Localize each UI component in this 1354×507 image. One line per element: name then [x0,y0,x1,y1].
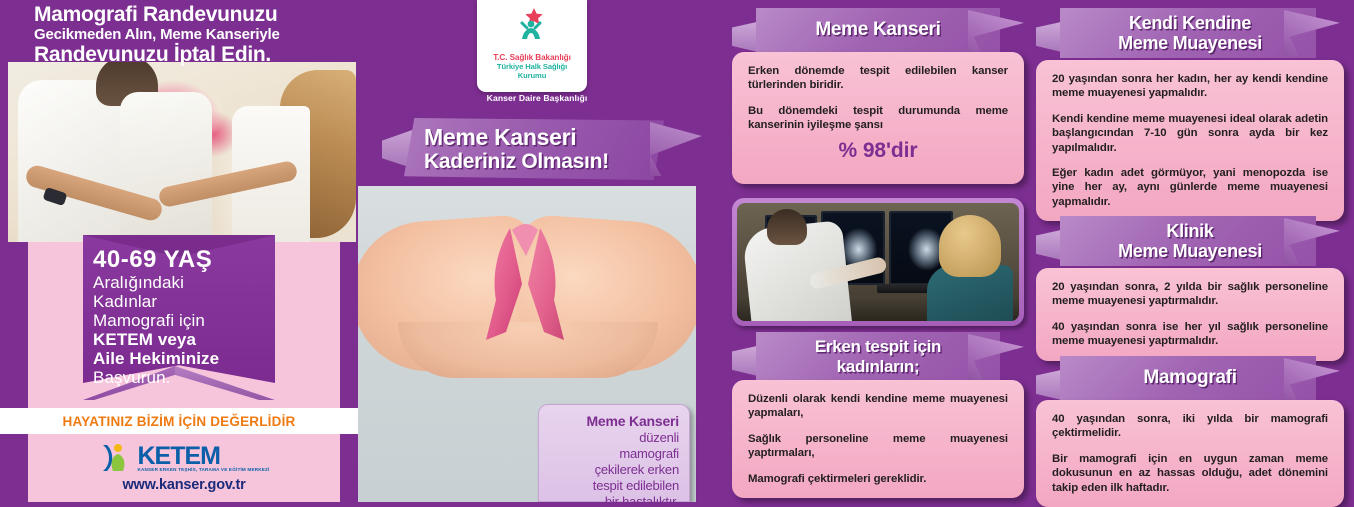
left-panel: Mamografi Randevunuzu Gecikmeden Alın, M… [0,0,358,502]
banner-body [1060,8,1316,58]
card-body: 20 yaşından sonra her kadın, her ay kend… [1036,60,1344,221]
card-banner: Kendi Kendine Meme Muayenesi [1036,8,1344,60]
age-range-ribbon: 40-69 YAŞ Aralığındaki Kadınlar Mamograf… [83,235,275,387]
banner-body [1060,356,1316,400]
card-meme-kanseri: Meme Kanseri Erken dönemde tespit edileb… [732,8,1024,184]
age-line-6: Aile Hekiminize [93,349,269,368]
age-line-3: Kadınlar [93,292,269,311]
card-erken-tespit: Erken tespit için kadınların; Düzenli ol… [732,332,1024,498]
card-paragraph-0: Düzenli olarak kendi kendine meme muayen… [748,392,1008,421]
card-paragraph-1: Bu dönemdeki tespit durumunda meme kanse… [748,104,1008,133]
middle-note-title: Meme Kanseri [549,413,679,430]
age-line-1: 40-69 YAŞ [93,247,269,273]
slogan-strip: HAYATINIZ BİZİM İÇİN DEĞERLİDİR [0,408,358,434]
middle-note-line-2: çekilerek erken [549,462,679,478]
left-headline: Mamografi Randevunuzu Gecikmeden Alın, M… [34,4,354,66]
age-line-2: Aralığındaki [93,273,269,292]
ketem-figure-icon [98,443,132,473]
ministry-emblem-icon [500,6,564,52]
mammogram-photo-inner [737,203,1019,321]
card-paragraph-0: Erken dönemde tespit edilebilen kanser t… [748,64,1008,93]
ministry-logo-caption: Kanser Daire Başkanlığı [358,93,716,103]
left-headline-line3: Randevunuzu İptal Edin. [34,44,354,66]
photo-patient-hair [939,215,1001,277]
ketem-subtitle: KANSER ERKEN TEŞHİS, TARAMA VE EĞİTİM ME… [137,467,269,472]
card-banner: Meme Kanseri [732,8,1024,54]
middle-panel: T.C. Sağlık Bakanlığı Türkiye Halk Sağlı… [358,0,716,502]
middle-note-line-3: tespit edilebilen [549,478,679,494]
pink-ribbon-icon [466,222,584,350]
photo-doctor-head [767,209,807,245]
middle-banner: Meme Kanseri Kaderiniz Olmasın! [382,118,702,184]
banner-body [1060,216,1316,266]
card-paragraph-0: 40 yaşından sonra, iki yılda bir mamogra… [1052,412,1328,441]
card-body: 40 yaşından sonra, iki yılda bir mamogra… [1036,400,1344,507]
ketem-wordmark-group: KETEM KANSER ERKEN TEŞHİS, TARAMA VE EĞİ… [137,444,269,472]
photo-shirt-right [120,92,212,242]
middle-note-line-1: mamografi [549,446,679,462]
middle-note-line-0: düzenli [549,430,679,446]
card-paragraph-0: 20 yaşından sonra, 2 yılda bir sağlık pe… [1052,280,1328,309]
middle-banner-line2: Kaderiniz Olmasın! [424,150,674,174]
ketem-website-url[interactable]: www.kanser.gov.tr [122,477,245,493]
ketem-wordmark: KETEM [137,444,269,469]
age-line-5: KETEM veya [93,330,269,349]
card-klinik-muayene: Klinik Meme Muayenesi 20 yaşından sonra,… [1036,216,1344,361]
ketem-logo-block: KETEM KANSER ERKEN TEŞHİS, TARAMA VE EĞİ… [28,434,340,502]
age-line-7: Başvurun. [93,368,269,387]
ministry-name-line3: Kurumu [518,71,547,80]
card-banner: Mamografi [1036,356,1344,402]
card-banner: Erken tespit için kadınların; [732,332,1024,378]
card-paragraph-2: Mamografi çektirmeleri gereklidir. [748,472,1008,486]
middle-note-line-4: bir hastalıktır. [549,494,679,502]
card-body: 20 yaşından sonra, 2 yılda bir sağlık pe… [1036,268,1344,361]
card-highlight-percentage: % 98'dir [748,144,1008,158]
ministry-name-line2: Türkiye Halk Sağlığı [497,62,567,71]
card-paragraph-1: Bir mamografi için en uygun zaman meme d… [1052,452,1328,495]
ministry-logo-card: T.C. Sağlık Bakanlığı Türkiye Halk Sağlı… [477,0,587,92]
card-paragraph-1: Sağlık personeline meme muayenesi yaptır… [748,432,1008,461]
left-headline-line1: Mamografi Randevunuzu [34,4,354,26]
card-paragraph-1: 40 yaşından sonra ise her yıl sağlık per… [1052,320,1328,349]
card-body: Erken dönemde tespit edilebilen kanser t… [732,52,1024,184]
card-paragraph-0: 20 yaşından sonra her kadın, her ay kend… [1052,72,1328,101]
card-body: Düzenli olarak kendi kendine meme muayen… [732,380,1024,498]
middle-banner-text: Meme Kanseri Kaderiniz Olmasın! [424,124,674,174]
age-line-4: Mamografi için [93,311,269,330]
doctor-reviewing-mammogram-photo [732,198,1024,326]
card-mamografi: Mamografi 40 yaşından sonra, iki yılda b… [1036,356,1344,507]
brochure-poster: Mamografi Randevunuzu Gecikmeden Alın, M… [0,0,1354,502]
card-banner: Klinik Meme Muayenesi [1036,216,1344,268]
right-panel: Meme Kanseri Erken dönemde tespit edileb… [716,0,1354,502]
ketem-logo-row: KETEM KANSER ERKEN TEŞHİS, TARAMA VE EĞİ… [98,443,269,473]
card-paragraph-2: Eğer kadın adet görmüyor, yani menopozda… [1052,166,1328,209]
couple-with-flowers-photo [8,62,356,242]
left-headline-line2: Gecikmeden Alın, Meme Kanseriyle [34,26,354,44]
card-kendi-kendine: Kendi Kendine Meme Muayenesi 20 yaşından… [1036,8,1344,221]
slogan-text: HAYATINIZ BİZİM İÇİN DEĞERLİDİR [63,414,296,429]
middle-banner-line1: Meme Kanseri [424,124,674,150]
ministry-name-line1: T.C. Sağlık Bakanlığı [493,53,571,62]
banner-body [756,332,1000,382]
age-ribbon-text: 40-69 YAŞ Aralığındaki Kadınlar Mamograf… [93,247,269,387]
banner-body [756,8,1000,52]
middle-note-card: Meme Kanseri düzenli mamografi çekilerek… [538,404,690,502]
card-paragraph-1: Kendi kendine meme muayenesi ideal olara… [1052,112,1328,155]
